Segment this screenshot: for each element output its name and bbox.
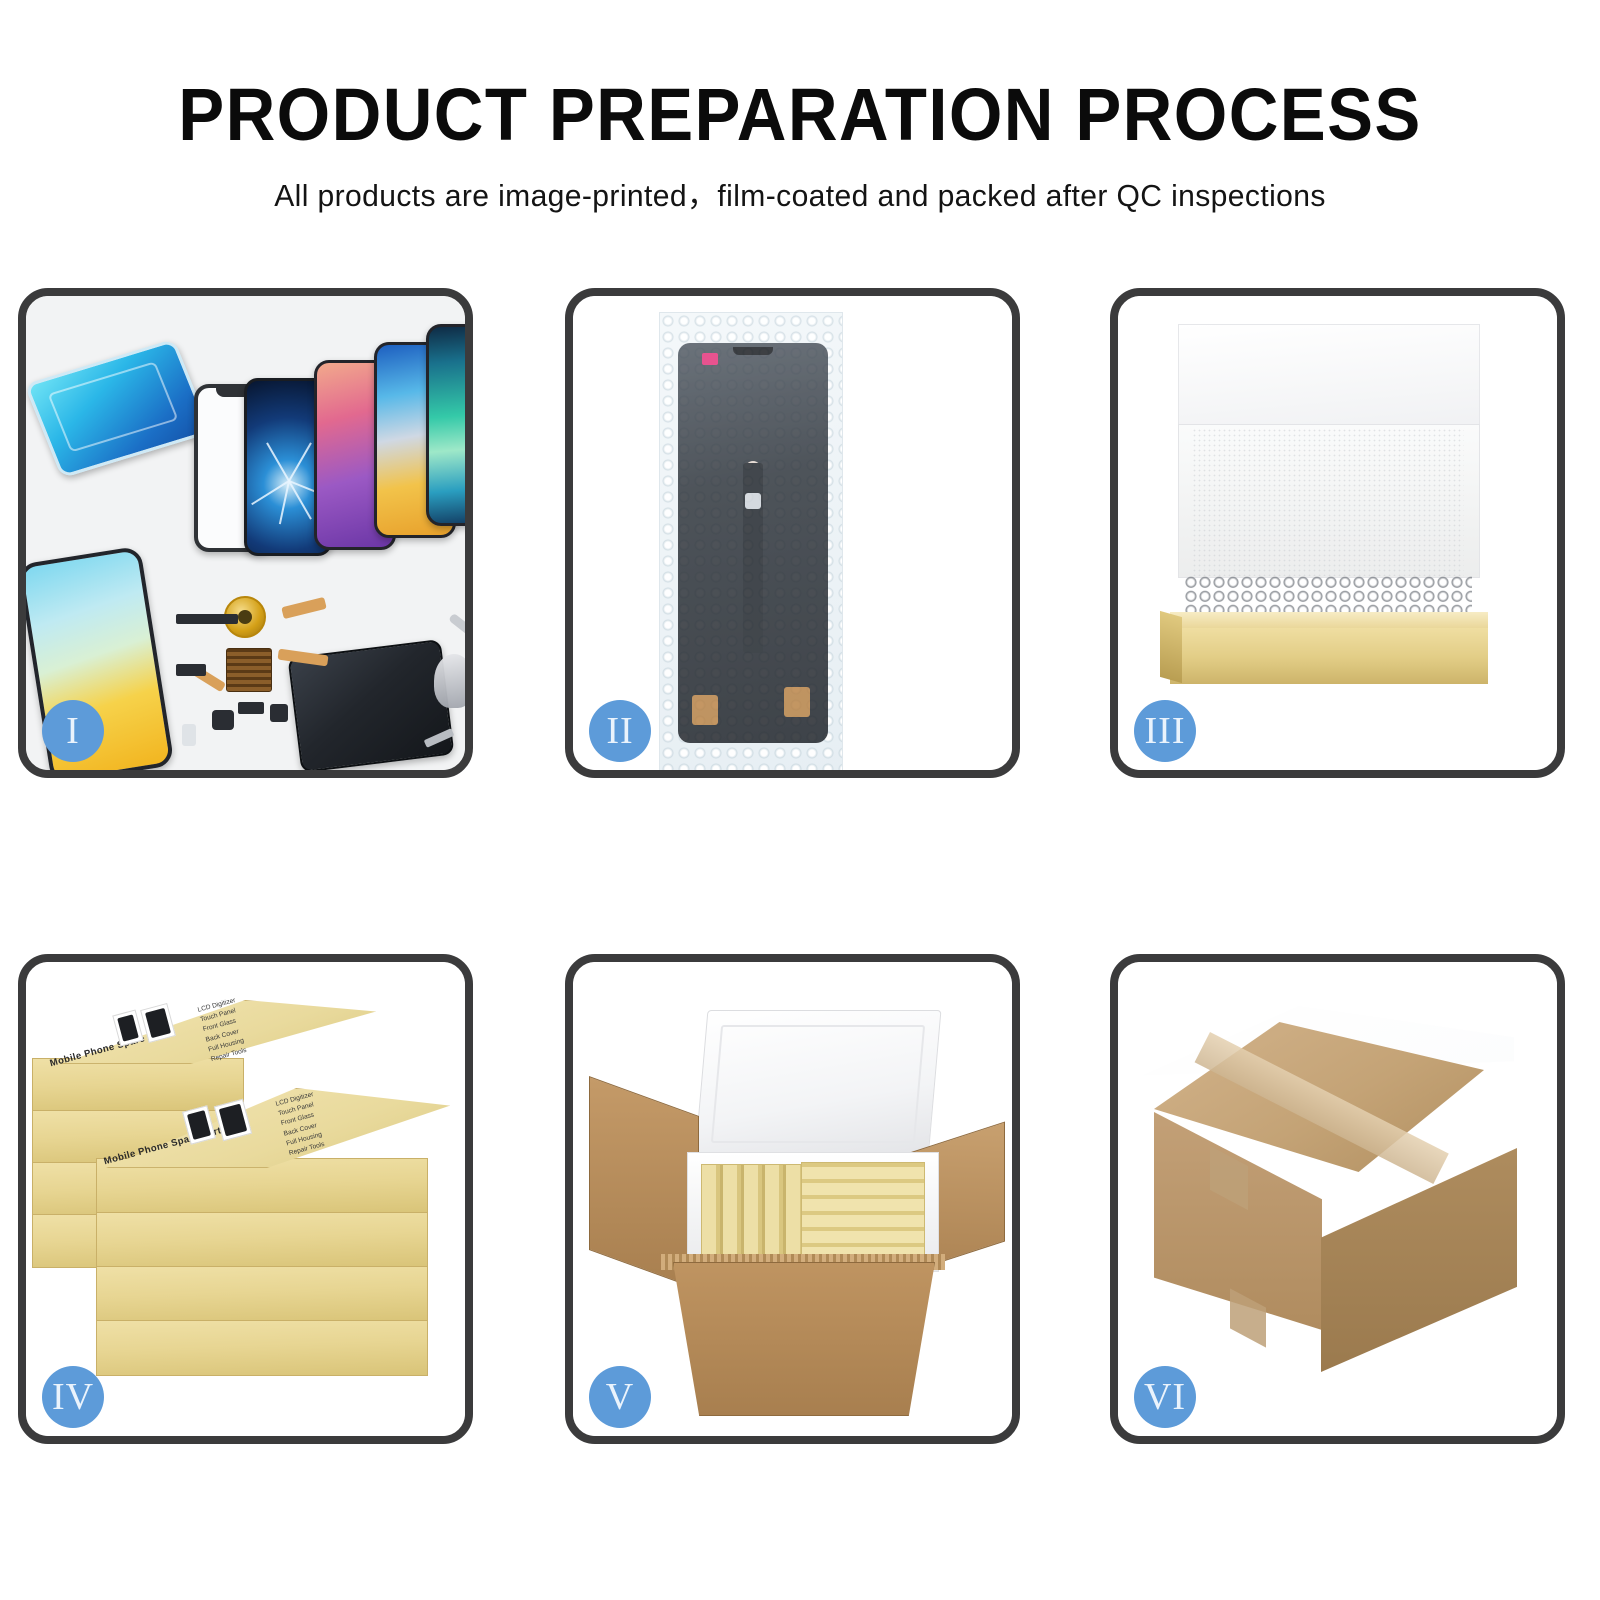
stacked-boxes-scene: Mobile Phone Spare Parts LCD Digitizer T… xyxy=(26,962,465,1436)
box-lid xyxy=(1178,324,1480,431)
product-preparation-infographic: PRODUCT PREPARATION PROCESS All products… xyxy=(0,0,1600,1600)
page-title: PRODUCT PREPARATION PROCESS xyxy=(56,0,1544,152)
process-step-grid: I xyxy=(0,282,1600,1452)
stacked-box-front-3 xyxy=(96,1266,428,1322)
gold-boxes-row-right xyxy=(801,1162,925,1260)
brush-image xyxy=(434,654,465,708)
panel-3-artwork xyxy=(1118,296,1557,770)
process-step-panel-5[interactable]: V xyxy=(565,954,1020,1444)
screwdriver-image xyxy=(448,613,465,648)
earpiece-mesh-image xyxy=(176,614,238,624)
stacked-box-front-2 xyxy=(96,1212,428,1268)
vibrator-image xyxy=(176,664,206,676)
process-step-panel-3[interactable]: III xyxy=(1110,288,1565,778)
process-step-panel-6[interactable]: VI xyxy=(1110,954,1565,1444)
step-badge-3: III xyxy=(1134,700,1196,762)
sealed-carton-scene xyxy=(1118,962,1557,1436)
foam-lined-box-scene xyxy=(1118,296,1557,770)
step-badge-2: II xyxy=(589,700,651,762)
speaker-image xyxy=(212,710,234,730)
lcd-assembly-image xyxy=(678,343,828,743)
ic-chip-image xyxy=(226,648,272,692)
step-badge-6: VI xyxy=(1134,1366,1196,1428)
flex-tab-left xyxy=(692,695,718,725)
panel-4-artwork: Mobile Phone Spare Parts LCD Digitizer T… xyxy=(26,962,465,1436)
carton-body xyxy=(673,1262,935,1416)
sim-tray-image xyxy=(182,724,196,746)
lcd-back-frame-image xyxy=(26,339,212,478)
panel-1-artwork xyxy=(26,296,465,770)
spare-parts-collage-scene xyxy=(26,296,465,770)
carton-side-face xyxy=(1321,1148,1517,1372)
step-badge-1: I xyxy=(42,700,104,762)
process-step-panel-1[interactable]: I xyxy=(18,288,473,778)
step-badge-4: IV xyxy=(42,1366,104,1428)
process-step-panel-4[interactable]: Mobile Phone Spare Parts LCD Digitizer T… xyxy=(18,954,473,1444)
screen-notch xyxy=(733,347,773,355)
flex-cable-image-1 xyxy=(281,597,327,619)
process-step-panel-2[interactable]: II xyxy=(565,288,1020,778)
step-badge-5: V xyxy=(589,1366,651,1428)
flex-tab-right xyxy=(784,687,810,717)
panel-5-artwork xyxy=(573,962,1012,1436)
teal-display-image xyxy=(426,324,465,526)
flex-cable xyxy=(743,463,763,653)
bubble-wrapped-lcd-scene xyxy=(573,296,1012,770)
connector-image-1 xyxy=(238,702,264,714)
header: PRODUCT PREPARATION PROCESS All products… xyxy=(0,0,1600,214)
pink-qc-label xyxy=(702,353,718,365)
foam-sheet xyxy=(1192,428,1464,576)
styrofoam-lid xyxy=(695,1010,942,1158)
stacked-box-front-4 xyxy=(96,1320,428,1376)
cable-connector xyxy=(745,493,761,509)
panel-2-artwork xyxy=(573,296,1012,770)
page-subtitle: All products are image-printed，film-coat… xyxy=(24,152,1576,214)
stacked-box-back-1 xyxy=(32,1058,244,1112)
panel-6-artwork xyxy=(1118,962,1557,1436)
gold-box-tray xyxy=(1170,626,1488,684)
styrofoam-carton-scene xyxy=(573,962,1012,1436)
camera-module-image xyxy=(270,704,288,722)
bubble-wrap-bag xyxy=(659,312,843,770)
